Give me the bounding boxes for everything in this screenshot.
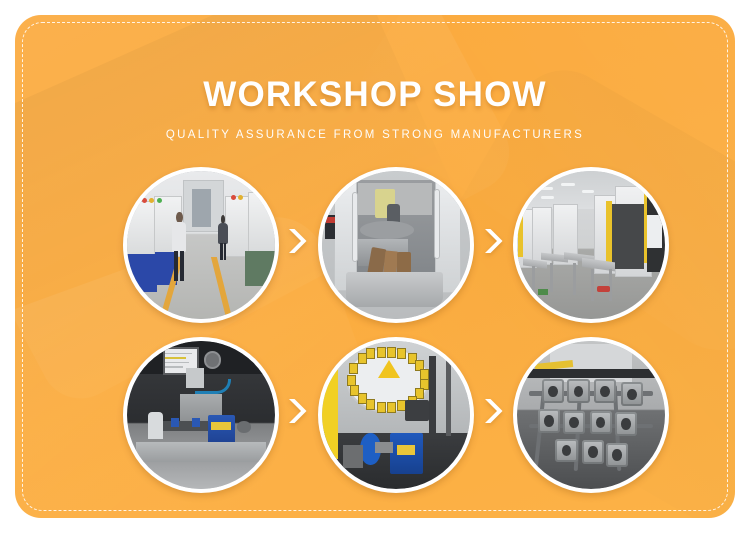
gallery-photo-2[interactable] bbox=[318, 167, 474, 323]
photo-1-image bbox=[127, 171, 275, 319]
gallery-photo-1[interactable] bbox=[123, 167, 279, 323]
page-subtitle: QUALITY ASSURANCE FROM STRONG MANUFACTUR… bbox=[15, 129, 735, 141]
photo-4-image bbox=[127, 341, 275, 489]
photo-6-image bbox=[517, 341, 665, 489]
gallery-photo-3[interactable] bbox=[513, 167, 669, 323]
gallery-photo-6[interactable] bbox=[513, 337, 669, 493]
photo-5-image bbox=[322, 341, 470, 489]
orange-panel: WORKSHOP SHOW QUALITY ASSURANCE FROM STR… bbox=[15, 15, 735, 518]
gallery-photo-4[interactable] bbox=[123, 337, 279, 493]
photo-2-image bbox=[322, 171, 470, 319]
gallery-photo-5[interactable] bbox=[318, 337, 474, 493]
photo-3-image bbox=[517, 171, 665, 319]
page-title: WORKSHOP SHOW bbox=[15, 75, 735, 115]
chevron-right-icon bbox=[481, 226, 503, 256]
chevron-right-icon bbox=[285, 226, 307, 256]
chevron-right-icon bbox=[285, 396, 307, 426]
banner-canvas: WORKSHOP SHOW QUALITY ASSURANCE FROM STR… bbox=[0, 0, 750, 540]
chevron-right-icon bbox=[481, 396, 503, 426]
